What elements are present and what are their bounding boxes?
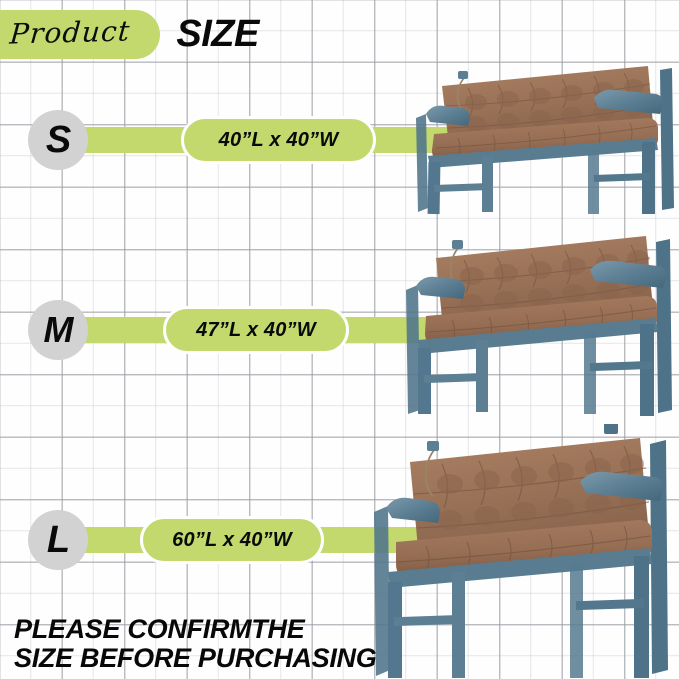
poster-header: Product SIZE <box>0 6 259 62</box>
size-badge-large-letter: L <box>47 521 69 559</box>
size-badge-medium-letter: M <box>44 312 73 348</box>
purchase-warning-note: PLEASE CONFIRMTHE SIZE BEFORE PURCHASING <box>14 615 376 673</box>
product-size-poster: Product SIZE <box>0 0 679 679</box>
size-badge-small: S <box>28 110 88 170</box>
bench-small-image <box>398 58 679 218</box>
product-label-pill: Product <box>0 10 160 59</box>
size-dimension-medium-text: 47”L x 40”W <box>196 319 316 342</box>
purchase-warning-line-1: PLEASE CONFIRMTHE <box>14 615 376 644</box>
size-dimension-pill-small: 40”L x 40”W <box>181 116 376 164</box>
size-dimension-small-text: 40”L x 40”W <box>219 129 339 152</box>
size-dimension-pill-large: 60”L x 40”W <box>140 516 324 564</box>
product-label-text: Product <box>9 14 132 50</box>
bench-large-image <box>352 424 679 679</box>
size-heading-text: SIZE <box>176 15 258 53</box>
size-badge-small-letter: S <box>46 121 70 159</box>
size-badge-medium: M <box>28 300 88 360</box>
size-dimension-pill-medium: 47”L x 40”W <box>163 306 349 354</box>
bench-medium-image <box>384 228 679 420</box>
purchase-warning-line-2: SIZE BEFORE PURCHASING <box>14 644 376 673</box>
size-badge-large: L <box>28 510 88 570</box>
size-dimension-large-text: 60”L x 40”W <box>172 529 292 552</box>
